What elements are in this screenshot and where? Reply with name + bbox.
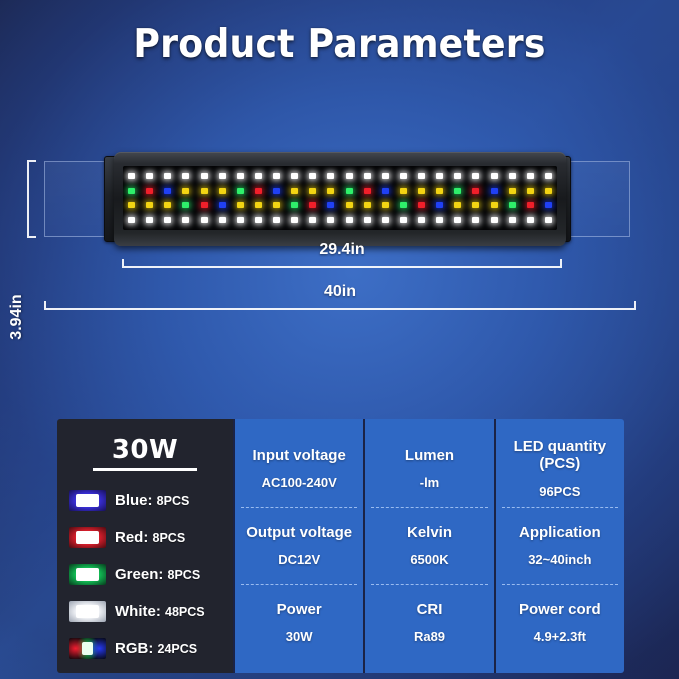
led-row [128,188,552,194]
led-w-icon [545,173,552,179]
legend-label: Green: 8PCS [115,566,200,583]
led-b-icon [545,202,552,208]
white-led-swatch [69,601,106,622]
spec-value: Ra89 [414,629,445,644]
led-y-icon [509,188,516,194]
led-b-icon [436,202,443,208]
led-b-icon [327,202,334,208]
led-row [128,202,552,208]
blue-led-swatch [69,490,106,511]
spec-value: 32~40inch [528,552,591,567]
led-composition-card: 30W Blue: 8PCSRed: 8PCSGreen: 8PCSWhite:… [57,419,233,673]
spec-value: DC12V [278,552,320,567]
led-g-icon [509,202,516,208]
led-w-icon [346,217,353,223]
led-w-icon [509,217,516,223]
led-y-icon [364,202,371,208]
legend-quantity: 8PCS [168,568,201,582]
spec-key: LED quantity (PCS) [502,439,618,473]
led-g-icon [291,202,298,208]
led-y-icon [327,188,334,194]
led-w-icon [255,217,262,223]
led-g-icon [182,202,189,208]
led-row [128,217,552,223]
spec-cell: Input voltageAC100-240V [241,431,357,507]
led-y-icon [436,188,443,194]
led-w-icon [527,217,534,223]
led-r-icon [146,188,153,194]
spec-key: Kelvin [407,525,452,542]
led-w-icon [346,173,353,179]
red-led-swatch [69,527,106,548]
led-y-icon [255,202,262,208]
legend-row: Red: 8PCS [69,527,221,548]
led-y-icon [346,202,353,208]
led-b-icon [273,188,280,194]
led-g-icon [346,188,353,194]
led-w-icon [255,173,262,179]
led-r-icon [309,202,316,208]
led-w-icon [545,217,552,223]
spec-value: AC100-240V [262,475,337,490]
led-g-icon [237,188,244,194]
led-y-icon [400,188,407,194]
spec-column-2: Lumen-lmKelvin6500KCRIRa89 [363,419,493,673]
green-led-swatch [69,564,106,585]
spec-key: Input voltage [252,448,345,465]
legend-quantity: 24PCS [158,642,198,656]
led-g-icon [454,188,461,194]
spec-cell: CRIRa89 [371,584,487,661]
led-legend-list: Blue: 8PCSRed: 8PCSGreen: 8PCSWhite: 48P… [69,490,221,663]
spec-cell: Power30W [241,584,357,661]
rgb-led-swatch [69,638,106,659]
led-w-icon [418,217,425,223]
page-title: Product Parameters [24,22,655,67]
spec-key: Power [277,602,322,619]
led-w-icon [164,217,171,223]
led-w-icon [164,173,171,179]
led-b-icon [491,188,498,194]
led-r-icon [418,202,425,208]
led-b-icon [164,188,171,194]
led-w-icon [146,173,153,179]
spec-value: 6500K [410,552,448,567]
led-w-icon [527,173,534,179]
led-w-icon [219,217,226,223]
led-y-icon [472,202,479,208]
led-w-icon [182,173,189,179]
led-y-icon [491,202,498,208]
led-y-icon [527,188,534,194]
specification-table: 30W Blue: 8PCSRed: 8PCSGreen: 8PCSWhite:… [57,419,624,673]
spec-key: Application [519,525,601,542]
led-w-icon [327,173,334,179]
led-w-icon [273,217,280,223]
led-y-icon [201,188,208,194]
led-g-icon [128,188,135,194]
extension-arm-right [568,161,630,237]
led-w-icon [219,173,226,179]
led-w-icon [400,217,407,223]
led-w-icon [491,217,498,223]
spec-cell: Application32~40inch [502,507,618,584]
led-w-icon [472,173,479,179]
led-y-icon [164,202,171,208]
legend-row: Green: 8PCS [69,564,221,585]
led-w-icon [201,217,208,223]
led-w-icon [491,173,498,179]
spec-value: -lm [420,475,440,490]
height-dimension-label: 3.94in [8,283,26,351]
led-r-icon [527,202,534,208]
led-w-icon [472,217,479,223]
led-r-icon [255,188,262,194]
led-r-icon [364,188,371,194]
led-w-icon [436,217,443,223]
led-w-icon [382,173,389,179]
spec-cell: Power cord4.9+2.3ft [502,584,618,661]
led-w-icon [418,173,425,179]
fixture-width-label: 29.4in [122,241,562,259]
led-y-icon [128,202,135,208]
led-w-icon [400,173,407,179]
led-w-icon [309,217,316,223]
led-y-icon [219,188,226,194]
led-row [128,173,552,179]
led-r-icon [201,202,208,208]
led-w-icon [509,173,516,179]
led-w-icon [128,217,135,223]
led-w-icon [291,173,298,179]
spec-cell: LED quantity (PCS)96PCS [502,431,618,507]
led-w-icon [182,217,189,223]
led-w-icon [201,173,208,179]
led-w-icon [146,217,153,223]
led-y-icon [309,188,316,194]
led-w-icon [364,217,371,223]
legend-row: RGB: 24PCS [69,638,221,659]
product-parameters-infographic: Product Parameters 3.94in 29.4in 40in 30… [0,0,679,679]
legend-row: Blue: 8PCS [69,490,221,511]
led-y-icon [418,188,425,194]
led-w-icon [291,217,298,223]
legend-label: RGB: 24PCS [115,640,197,657]
led-g-icon [400,202,407,208]
wattage-heading: 30W [93,435,197,471]
led-b-icon [219,202,226,208]
aquarium-led-light-fixture [114,152,566,246]
legend-quantity: 48PCS [165,605,205,619]
led-y-icon [146,202,153,208]
led-w-icon [454,173,461,179]
led-w-icon [382,217,389,223]
spec-value: 96PCS [539,484,580,499]
led-y-icon [291,188,298,194]
fixture-width-bracket [122,259,562,268]
led-panel [123,166,557,230]
spec-cell: Lumen-lm [371,431,487,507]
total-width-bracket [44,301,636,310]
total-width-label: 40in [44,283,636,301]
extension-arm-left [44,161,110,237]
spec-column-1: Input voltageAC100-240VOutput voltageDC1… [233,419,363,673]
spec-key: Output voltage [246,525,352,542]
led-y-icon [454,202,461,208]
led-w-icon [273,173,280,179]
led-w-icon [237,173,244,179]
legend-label: Red: 8PCS [115,529,185,546]
led-w-icon [309,173,316,179]
legend-label: Blue: 8PCS [115,492,189,509]
led-y-icon [273,202,280,208]
led-w-icon [436,173,443,179]
spec-cell: Kelvin6500K [371,507,487,584]
legend-quantity: 8PCS [157,494,190,508]
legend-label: White: 48PCS [115,603,205,620]
height-dimension-bracket [27,160,36,238]
led-w-icon [364,173,371,179]
led-y-icon [545,188,552,194]
spec-column-3: LED quantity (PCS)96PCSApplication32~40i… [494,419,624,673]
led-w-icon [454,217,461,223]
legend-row: White: 48PCS [69,601,221,622]
led-y-icon [382,202,389,208]
spec-key: Lumen [405,448,454,465]
product-dimension-diagram: 3.94in 29.4in 40in [0,140,679,325]
spec-value: 4.9+2.3ft [534,629,586,644]
spec-key: Power cord [519,602,601,619]
led-b-icon [382,188,389,194]
led-w-icon [128,173,135,179]
led-y-icon [182,188,189,194]
led-w-icon [327,217,334,223]
spec-value: 30W [286,629,313,644]
led-r-icon [472,188,479,194]
led-y-icon [237,202,244,208]
spec-key: CRI [417,602,443,619]
legend-quantity: 8PCS [153,531,186,545]
led-w-icon [237,217,244,223]
spec-cell: Output voltageDC12V [241,507,357,584]
